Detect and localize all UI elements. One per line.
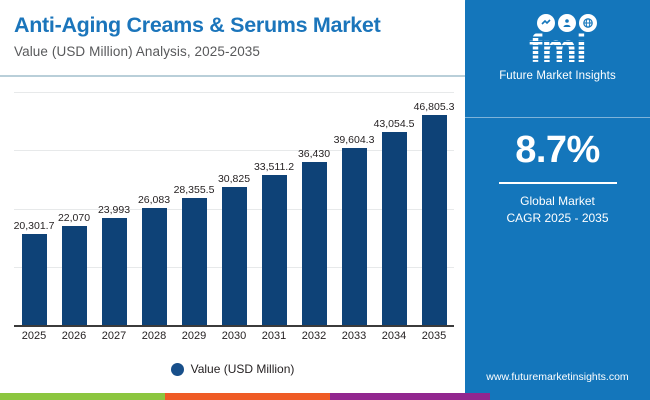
bar-value-label: 20,301.7	[14, 220, 55, 232]
bar-group[interactable]: 36,430	[294, 92, 334, 325]
x-tick-label: 2029	[174, 330, 214, 342]
legend-label: Value (USD Million)	[191, 362, 295, 376]
bottom-color-strip	[0, 393, 650, 400]
strip-orange	[165, 393, 330, 400]
legend-marker-icon	[171, 363, 184, 376]
x-tick-label: 2027	[94, 330, 134, 342]
strip-green	[0, 393, 165, 400]
bar[interactable]	[382, 132, 407, 325]
x-tick-label: 2028	[134, 330, 174, 342]
x-tick-label: 2032	[294, 330, 334, 342]
bar-group[interactable]: 23,993	[94, 92, 134, 325]
logo-tagline: Future Market Insights	[465, 70, 650, 82]
page-subtitle: Value (USD Million) Analysis, 2025-2035	[14, 44, 465, 59]
bar-value-label: 23,993	[98, 204, 130, 216]
cagr-caption-line1: Global Market	[465, 193, 650, 210]
bar[interactable]	[102, 218, 127, 326]
cagr-block: 8.7% Global Market CAGR 2025 - 2035	[465, 128, 650, 227]
bar-group[interactable]: 26,083	[134, 92, 174, 325]
chart-legend: Value (USD Million)	[0, 362, 465, 376]
bar-value-label: 36,430	[298, 148, 330, 160]
bar-value-label: 39,604.3	[334, 134, 375, 146]
brand-panel: fmi Future Market Insights 8.7% Global M…	[465, 0, 650, 393]
x-tick-label: 2030	[214, 330, 254, 342]
bar-value-label: 22,070	[58, 212, 90, 224]
infographic-root: Anti-Aging Creams & Serums Market Value …	[0, 0, 650, 400]
website-url[interactable]: www.futuremarketinsights.com	[465, 371, 650, 383]
bar[interactable]	[422, 115, 447, 325]
page-title: Anti-Aging Creams & Serums Market	[14, 12, 465, 38]
panel-divider	[465, 117, 650, 118]
bar[interactable]	[222, 187, 247, 325]
x-tick-label: 2026	[54, 330, 94, 342]
bar-value-label: 30,825	[218, 173, 250, 185]
bar-value-label: 46,805.3	[414, 101, 455, 113]
bar[interactable]	[262, 175, 287, 325]
bar-group[interactable]: 28,355.5	[174, 92, 214, 325]
bar[interactable]	[182, 198, 207, 325]
bar-group[interactable]: 20,301.7	[14, 92, 54, 325]
bar[interactable]	[342, 148, 367, 325]
fmi-logo: fmi Future Market Insights	[465, 0, 650, 82]
cagr-caption-line2: CAGR 2025 - 2035	[465, 210, 650, 227]
bar-value-label: 28,355.5	[174, 184, 215, 196]
bar[interactable]	[142, 208, 167, 325]
logo-wordmark: fmi	[465, 29, 650, 69]
bar[interactable]	[62, 226, 87, 325]
cagr-value: 8.7%	[465, 128, 650, 172]
bar[interactable]	[302, 162, 327, 325]
bar-group[interactable]: 30,825	[214, 92, 254, 325]
bar-group[interactable]: 39,604.3	[334, 92, 374, 325]
bar-value-label: 33,511.2	[254, 161, 294, 173]
x-tick-label: 2035	[414, 330, 454, 342]
x-tick-label: 2034	[374, 330, 414, 342]
bar-group[interactable]: 33,511.2	[254, 92, 294, 325]
strip-blue	[490, 393, 650, 400]
bar[interactable]	[22, 234, 47, 325]
chart-header: Anti-Aging Creams & Serums Market Value …	[0, 0, 465, 77]
x-tick-label: 2033	[334, 330, 374, 342]
x-axis-line	[14, 325, 454, 327]
x-axis-labels: 2025202620272028202920302031203220332034…	[14, 330, 454, 342]
strip-purple	[330, 393, 490, 400]
bar-series: 20,301.722,07023,99326,08328,355.530,825…	[14, 92, 454, 325]
x-tick-label: 2025	[14, 330, 54, 342]
bar-value-label: 26,083	[138, 194, 170, 206]
bar-value-label: 43,054.5	[374, 118, 415, 130]
x-tick-label: 2031	[254, 330, 294, 342]
bar-group[interactable]: 46,805.3	[414, 92, 454, 325]
bar-group[interactable]: 43,054.5	[374, 92, 414, 325]
bar-group[interactable]: 22,070	[54, 92, 94, 325]
cagr-rule	[499, 182, 617, 184]
chart-panel: Anti-Aging Creams & Serums Market Value …	[0, 0, 465, 393]
